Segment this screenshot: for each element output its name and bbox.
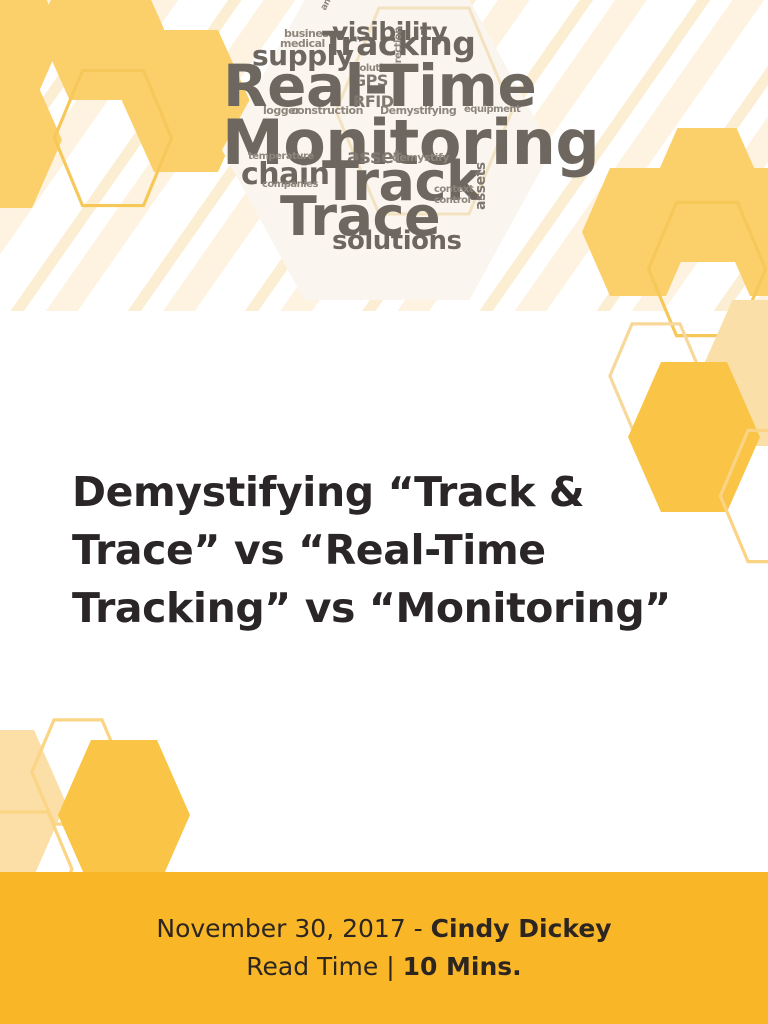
wordcloud-word: control [434,196,470,206]
wordcloud-words: analyzevisibilitybusinessmedicalTracking… [222,0,552,300]
read-time-label: Read Time | [246,952,402,981]
wordcloud-word: context [434,185,473,195]
footer-readtime: Read Time | 10 Mins. [246,948,521,986]
wordcloud-word: assets [474,162,488,210]
read-time-value: 10 Mins. [403,952,522,981]
hex-tl-5 [52,68,174,208]
page-title: Demystifying “Track & Trace” vs “Real-Ti… [72,463,672,637]
hero-wordcloud: analyzevisibilitybusinessmedicalTracking… [222,0,552,300]
author-name: Cindy Dickey [431,914,612,943]
footer-byline: November 30, 2017 - Cindy Dickey [156,910,611,948]
footer-bar: November 30, 2017 - Cindy Dickey Read Ti… [0,872,768,1024]
hex-r-4 [718,428,768,564]
wordcloud-word: solutions [332,228,461,254]
publish-date: November 30, 2017 - [156,914,430,943]
wordcloud-word: analyze [320,0,345,12]
slide-page: analyzevisibilitybusinessmedicalTracking… [0,0,768,1024]
